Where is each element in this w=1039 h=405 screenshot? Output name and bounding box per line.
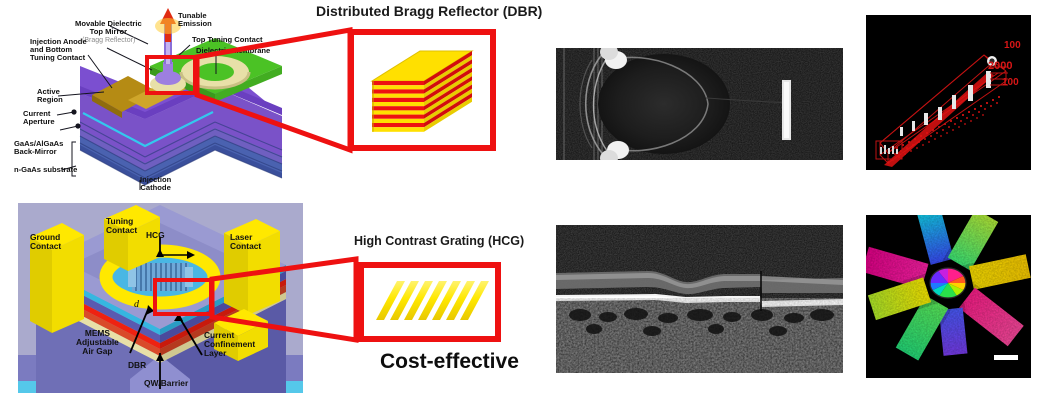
- label-substrate: n-GaAs substrate: [14, 166, 77, 174]
- polarization-render-content: [866, 215, 1031, 378]
- dbr-callout-box: [348, 29, 496, 151]
- long-range-render-content: [866, 15, 1031, 170]
- label-mems-air-gap: MEMS Adjustable Air Gap: [76, 329, 119, 355]
- dbr-callout-title: Distributed Bragg Reflector (DBR): [316, 3, 542, 19]
- label-injection-cathode: Injection Cathode: [140, 176, 171, 192]
- label-laser-contact: Laser Contact: [230, 233, 261, 251]
- label-qw-barrier: QW/Barrier: [144, 379, 188, 388]
- hcg-callout-box: [358, 262, 501, 342]
- retinal-oct-content: [556, 225, 843, 373]
- dbr-layer-stack-illustration: [354, 35, 490, 145]
- label-dbr: DBR: [128, 361, 146, 370]
- scale-bar: [994, 355, 1018, 360]
- hcg-callout-connector: [206, 255, 361, 345]
- anterior-segment-oct-image: [556, 48, 843, 160]
- label-active-region: Active Region: [37, 88, 63, 104]
- hcg-grating-illustration: [364, 268, 495, 336]
- axis-tick-1: 100: [1004, 40, 1021, 51]
- hcg-region-highlight-box: [153, 278, 213, 316]
- long-range-3d-render: 100 2000 100: [866, 15, 1031, 170]
- label-current-aperture: Current Aperture: [23, 110, 55, 126]
- label-back-mirror: GaAs/AlGaAs Back-Mirror: [14, 140, 63, 156]
- label-injection-anode: Injection Anode and Bottom Tuning Contac…: [30, 38, 87, 62]
- polarization-render: [866, 215, 1031, 378]
- label-bragg-reflector-sub: (Bragg Reflector): [82, 37, 135, 44]
- axis-tick-2: 2000: [988, 60, 1012, 72]
- axis-tick-3: 100: [1002, 77, 1019, 88]
- label-ground-contact: Ground Contact: [30, 233, 61, 251]
- retinal-oct-image: [556, 225, 843, 373]
- anterior-oct-content: [556, 48, 843, 160]
- label-hcg: HCG: [146, 231, 165, 240]
- label-tuning-contact: Tuning Contact: [106, 217, 137, 235]
- cost-effective-tagline: Cost-effective: [380, 350, 519, 374]
- label-movable-dielectric-top-mirror: Movable Dielectric Top Mirror: [75, 20, 142, 36]
- hcg-callout-title: High Contrast Grating (HCG): [354, 234, 524, 248]
- dbr-callout-connector: [190, 25, 355, 170]
